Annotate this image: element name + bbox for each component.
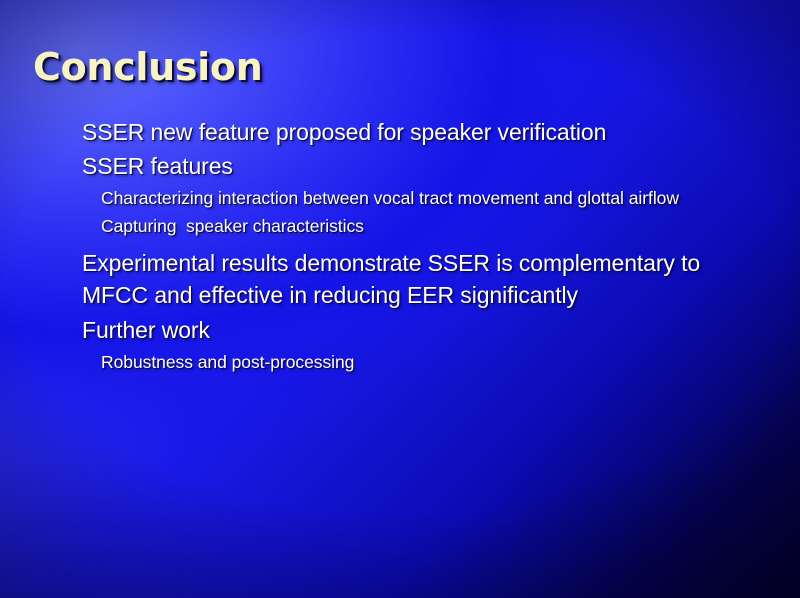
list-item-label: Experimental results demonstrate SSER is… (82, 247, 770, 311)
list-item: Further work (60, 314, 770, 346)
list-item: Robustness and post-processing (82, 350, 770, 375)
list-item: SSER features (60, 150, 770, 182)
page-title: Conclusion (33, 48, 753, 88)
presentation-slide: Conclusion SSER new feature proposed for… (0, 0, 800, 598)
list-item: SSER new feature proposed for speaker ve… (60, 116, 770, 148)
slide-title-block: Conclusion (33, 48, 753, 88)
list-item-label: Robustness and post-processing (101, 350, 354, 375)
list-item-label: Characterizing interaction between vocal… (101, 186, 679, 211)
list-item-label: Capturing speaker characteristics (101, 214, 364, 239)
list-item-label: SSER new feature proposed for speaker ve… (82, 116, 606, 148)
list-item-label: SSER features (82, 150, 233, 182)
list-item: Characterizing interaction between vocal… (82, 186, 770, 211)
list-item: Experimental results demonstrate SSER is… (60, 247, 770, 311)
list-item-label: Further work (82, 314, 210, 346)
slide-body-content: SSER new feature proposed for speaker ve… (60, 116, 770, 375)
list-item: Capturing speaker characteristics (82, 214, 770, 239)
